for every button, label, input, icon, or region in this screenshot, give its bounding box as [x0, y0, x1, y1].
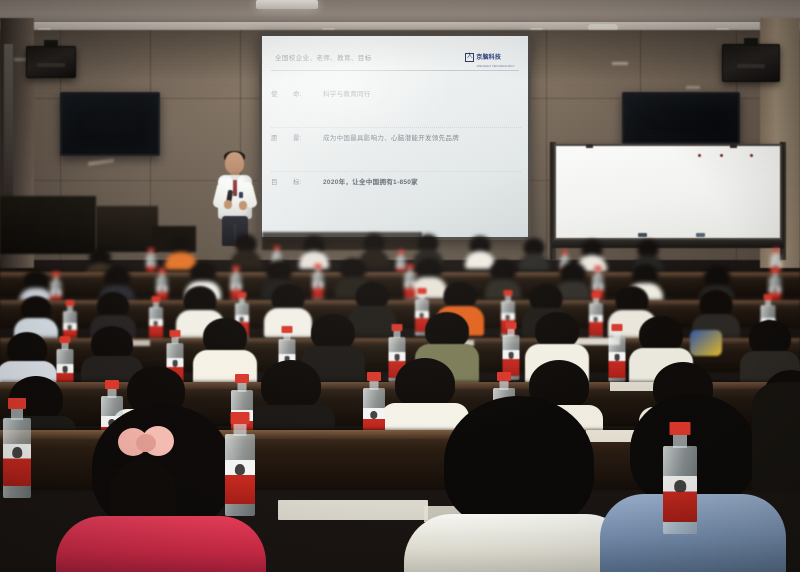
slide-row-key: 目: [271, 176, 293, 186]
whiteboard-clip: [586, 144, 593, 148]
hair-tie: [118, 426, 174, 458]
projection-screen: 全国校企业、老师、教育、目标 人 京脑科技 JINGNAO TECHNOLOGY…: [262, 36, 528, 237]
lecture-hall-photo: 全国校企业、老师、教育、目标 人 京脑科技 JINGNAO TECHNOLOGY…: [0, 0, 800, 572]
slide-header: 全国校企业、老师、教育、目标 人 京脑科技 JINGNAO TECHNOLOGY: [271, 44, 519, 71]
student: [520, 238, 548, 270]
whiteboard-magnet: [698, 154, 701, 157]
student-partial-right: [752, 382, 800, 492]
water-bottle-foreground: [662, 422, 698, 534]
pink-shirt: [56, 516, 266, 572]
hair: [444, 396, 594, 528]
slide-title: 全国校企业、老师、教育、目标: [275, 52, 372, 62]
slide-row-value: 2020年，让全中国拥有1-850家: [323, 176, 418, 186]
logo-subtext: JINGNAO TECHNOLOGY: [476, 64, 515, 68]
presenter-tie: [233, 180, 237, 196]
ceiling-light-panel: [256, 0, 318, 9]
slide-body: 使 命: 科学与教育同行 愿 景: 成为中国最具影响力、心脑潜能开发领先品牌 目…: [271, 84, 521, 216]
water-bottle-foreground: [2, 398, 32, 498]
presenter-with-microphone: [206, 152, 264, 244]
presenter-right-hand: [239, 201, 247, 210]
presenter-badge: [239, 192, 243, 198]
water-bottle: [608, 324, 626, 382]
slide-row-mid: 命:: [293, 88, 323, 98]
slide-row: 目 标: 2020年，让全中国拥有1-850家: [271, 172, 521, 216]
backpack: [690, 330, 722, 356]
wall-scuff: [612, 62, 628, 65]
whiteboard-marker: [696, 233, 705, 237]
slide-row-mid: 标:: [293, 176, 323, 186]
water-bottle: [588, 292, 603, 340]
slide-row-key: 使: [271, 88, 293, 98]
logo-mark: 人: [465, 53, 474, 62]
wall-monitor-right: [622, 92, 740, 144]
whiteboard-clip: [730, 144, 737, 148]
slide-company-logo: 人 京脑科技 JINGNAO TECHNOLOGY: [465, 46, 515, 68]
wall-speaker-left: [26, 46, 76, 78]
wall-scuff: [686, 86, 700, 89]
slide-row-value: 科学与教育同行: [323, 88, 371, 98]
student: [232, 234, 260, 266]
water-bottle: [312, 264, 324, 302]
projection-screen-frame: 全国校企业、老师、教育、目标 人 京脑科技 JINGNAO TECHNOLOGY…: [259, 33, 531, 240]
slide-row-key: 愿: [271, 132, 293, 142]
water-bottle: [148, 296, 163, 344]
whiteboard-magnet: [750, 154, 753, 157]
slide-row: 使 命: 科学与教育同行: [271, 84, 521, 128]
whiteboard-surface: [554, 144, 782, 240]
slide-row-value: 成为中国最具影响力、心脑潜能开发领先品牌: [323, 132, 459, 142]
slide-row: 愿 景: 成为中国最具影响力、心脑潜能开发领先品牌: [271, 128, 521, 172]
water-bottle-foreground: [224, 412, 256, 516]
podium: [96, 206, 158, 252]
front-shadow: [262, 232, 422, 250]
whiteboard-marker: [638, 233, 647, 237]
side-equipment: [0, 196, 96, 254]
whiteboard-magnet: [720, 154, 723, 157]
wall-monitor-left: [60, 92, 160, 156]
presenter-left-hand: [224, 200, 232, 209]
presenter-head: [225, 152, 244, 174]
wall-speaker-right: [722, 44, 780, 82]
slide-row-mid: 景:: [293, 132, 323, 142]
logo-text: 京脑科技: [476, 55, 501, 61]
